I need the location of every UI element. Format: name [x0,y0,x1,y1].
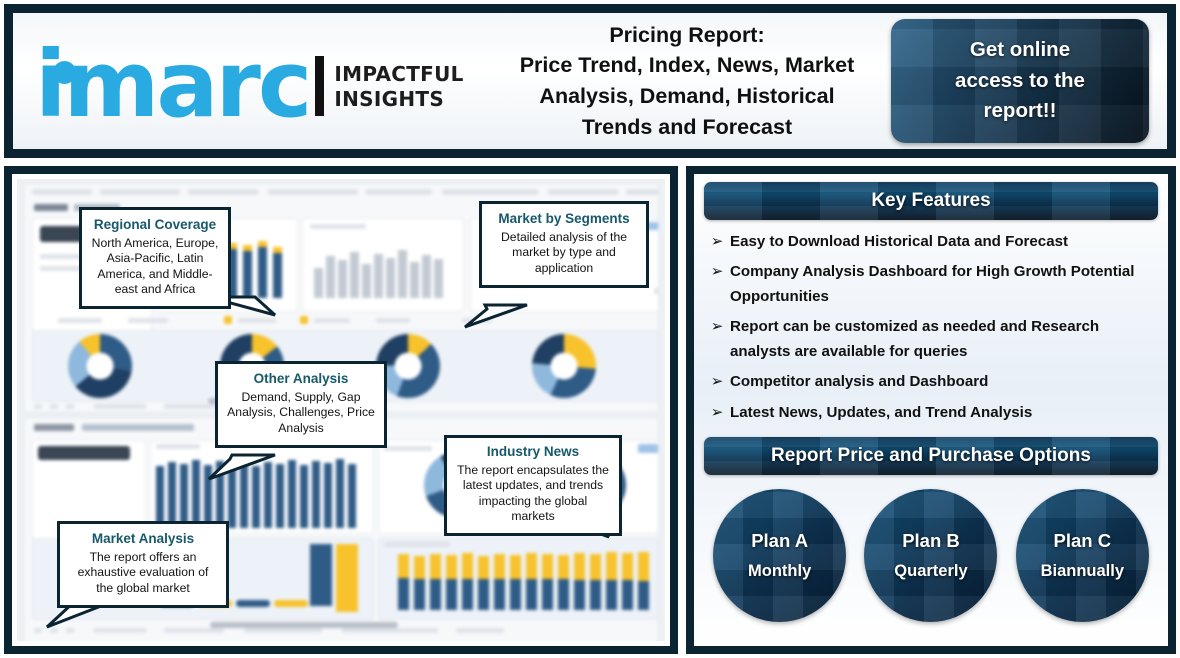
logo-tagline: IMPACTFUL INSIGHTS [334,62,463,112]
logo-divider [315,56,324,116]
callout-body: The report encapsulates the latest updat… [456,463,610,524]
callout-other-analysis: Other Analysis Demand, Supply, Gap Analy… [215,361,387,448]
logo-text: imarc [35,31,309,138]
page-title-line-3: Analysis, Demand, Historical [489,81,885,112]
logo-tagline-line2: INSIGHTS [334,87,463,112]
key-features-header: Key Features [704,182,1158,220]
plan-options: Plan A Monthly Plan B Quarterly Plan C B… [704,489,1158,622]
feature-item: ➢ Easy to Download Historical Data and F… [704,230,1158,254]
callout-market-by-segments: Market by Segments Detailed analysis of … [479,201,649,288]
feature-label: Competitor analysis and Dashboard [730,370,1158,394]
dashboard-screenshot[interactable]: Regional Coverage North America, Europe,… [17,179,665,641]
info-panel: Key Features ➢ Easy to Download Historic… [686,166,1176,654]
arrow-bullet-icon: ➢ [704,315,730,339]
plan-period: Biannually [1041,562,1124,581]
plan-name: Plan B [902,530,960,552]
feature-label: Company Analysis Dashboard for High Grow… [730,260,1158,309]
callout-body: Detailed analysis of the market by type … [491,230,637,276]
page-title-line-1: Pricing Report: [489,20,885,51]
callout-body: North America, Europe, Asia-Pacific, Lat… [91,236,219,297]
header-bar: imarc IMPACTFUL INSIGHTS Pricing Report:… [4,4,1176,158]
callout-body: Demand, Supply, Gap Analysis, Challenges… [227,390,375,436]
callout-industry-news: Industry News The report encapsulates th… [444,435,622,536]
callout-title: Market Analysis [69,531,217,547]
pricing-heading: Report Price and Purchase Options [771,445,1091,467]
plan-period: Monthly [748,562,811,581]
arrow-bullet-icon: ➢ [704,370,730,394]
arrow-bullet-icon: ➢ [704,260,730,284]
feature-item: ➢ Competitor analysis and Dashboard [704,370,1158,394]
callout-market-analysis: Market Analysis The report offers an exh… [57,521,229,608]
pricing-report-banner: imarc IMPACTFUL INSIGHTS Pricing Report:… [0,0,1180,658]
callout-title: Regional Coverage [91,217,219,233]
feature-label: Easy to Download Historical Data and For… [730,230,1158,254]
page-title: Pricing Report: Price Trend, Index, News… [483,20,891,142]
callout-body: The report offers an exhaustive evaluati… [69,550,217,596]
plan-period: Quarterly [894,562,967,581]
plan-option-c[interactable]: Plan C Biannually [1016,489,1149,622]
arrow-bullet-icon: ➢ [704,401,730,425]
callout-title: Industry News [456,444,610,460]
feature-item: ➢ Company Analysis Dashboard for High Gr… [704,260,1158,309]
get-online-access-button[interactable]: Get online access to the report!! [891,19,1149,143]
key-features-list: ➢ Easy to Download Historical Data and F… [704,230,1158,425]
feature-label: Latest News, Updates, and Trend Analysis [730,401,1158,425]
arrow-bullet-icon: ➢ [704,230,730,254]
cta-line-1: Get online [955,35,1085,66]
cta-label: Get online access to the report!! [955,35,1085,127]
feature-item: ➢ Latest News, Updates, and Trend Analys… [704,401,1158,425]
callout-title: Other Analysis [227,371,375,387]
key-features-heading: Key Features [871,190,990,212]
feature-item: ➢ Report can be customized as needed and… [704,315,1158,364]
plan-option-b[interactable]: Plan B Quarterly [864,489,997,622]
logo-wordmark: imarc [35,47,309,122]
feature-label: Report can be customized as needed and R… [730,315,1158,364]
page-title-line-4: Trends and Forecast [489,112,885,143]
cta-line-2: access to the [955,66,1085,97]
pricing-header: Report Price and Purchase Options [704,437,1158,475]
cta-line-3: report!! [955,96,1085,127]
logo-tagline-line1: IMPACTFUL [334,62,463,87]
brand-logo[interactable]: imarc IMPACTFUL INSIGHTS [13,13,483,149]
callout-title: Market by Segments [491,211,637,227]
page-title-line-2: Price Trend, Index, News, Market [489,50,885,81]
plan-name: Plan A [751,530,808,552]
dashboard-preview-panel: Regional Coverage North America, Europe,… [4,166,678,654]
plan-option-a[interactable]: Plan A Monthly [713,489,846,622]
callout-regional-coverage: Regional Coverage North America, Europe,… [79,207,231,309]
plan-name: Plan C [1054,530,1112,552]
